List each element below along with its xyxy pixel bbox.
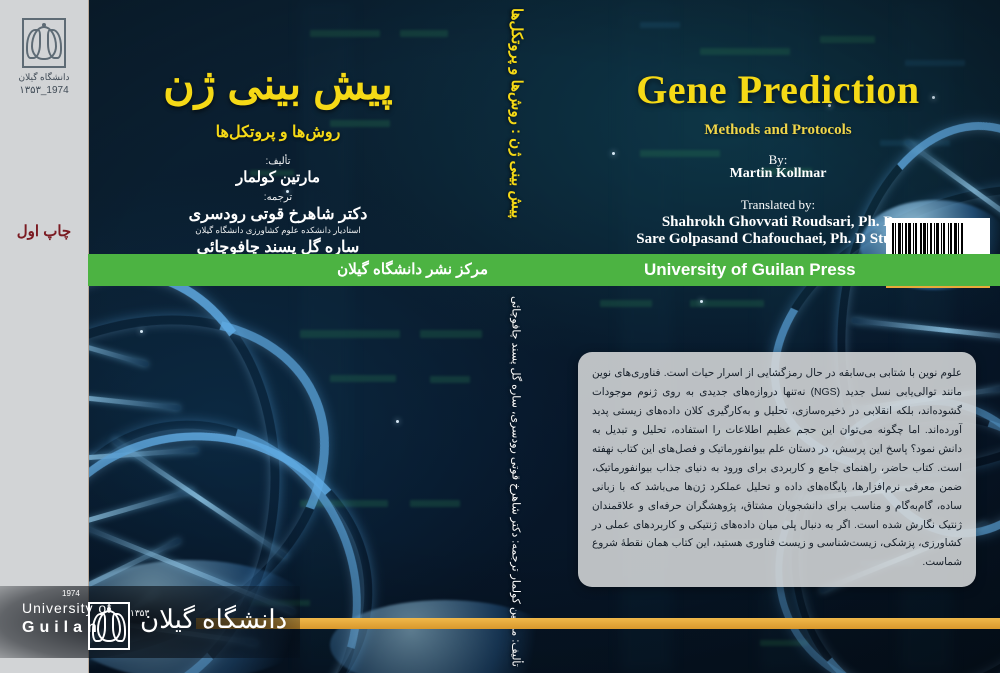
spine-title: پیش بینی ژن : روش‌ها و پروتکل‌ها	[507, 8, 525, 218]
persian-title: پیش بینی ژن	[88, 60, 468, 110]
book-cover: دانشگاه گیلان ۱۳۵۳_1974 چاپ اول پیش بینی…	[0, 0, 1000, 673]
persian-subtitle: روش‌ها و پروتکل‌ها	[88, 122, 468, 142]
back-cover-english: Gene Prediction Methods and Protocols By…	[556, 0, 1000, 673]
back-cover-blurb: علوم نوین با شتابی بی‌سابقه در حال رمزگش…	[578, 352, 976, 587]
persian-author-name: مارتین کولمار	[88, 168, 468, 186]
persian-translator-label: ترجمه:	[88, 192, 468, 203]
english-author-name: Martin Kollmar	[556, 166, 1000, 182]
flap-logo: دانشگاه گیلان ۱۳۵۳_1974	[0, 18, 88, 96]
edition-label: چاپ اول	[0, 222, 88, 240]
spine-credits-wrap: تألیف: مارتین کولمار ترجمه: دکتر شاهرخ ق…	[476, 296, 556, 646]
flap-logo-name: دانشگاه گیلان	[19, 72, 70, 83]
persian-credits: تألیف: مارتین کولمار ترجمه: دکتر شاهرخ ق…	[88, 150, 468, 269]
english-translated-label: Translated by:	[556, 197, 1000, 213]
book-spine: پیش بینی ژن : روش‌ها و پروتکل‌ها تألیف: …	[476, 0, 556, 673]
front-cover-persian: پیش بینی ژن روش‌ها و پروتکل‌ها تألیف: ما…	[88, 0, 476, 673]
publisher-name-persian: مرکز نشر دانشگاه گیلان	[337, 254, 488, 286]
english-title: Gene Prediction	[556, 66, 1000, 113]
persian-author-label: تألیف:	[88, 156, 468, 167]
flap-logo-years: ۱۳۵۳_1974	[19, 85, 68, 96]
spine-title-wrap: پیش بینی ژن : روش‌ها و پروتکل‌ها	[476, 8, 556, 248]
persian-translator-1: دکتر شاهرخ قوتی رودسری	[88, 204, 468, 224]
university-logo-block: 1974 University of Guilan ۱۳۵۳ دانشگاه گ…	[0, 586, 300, 658]
publisher-name-english: University of Guilan Press	[644, 254, 856, 286]
persian-translator-1-affiliation: استادیار دانشکده علوم کشاورزی دانشگاه گی…	[88, 225, 468, 236]
guilan-crest-icon-large	[88, 602, 130, 650]
english-subtitle: Methods and Protocols	[556, 122, 1000, 139]
guilan-crest-icon	[22, 18, 66, 68]
university-year-en: 1974	[62, 589, 80, 598]
publisher-band: مرکز نشر دانشگاه گیلان University of Gui…	[88, 254, 1000, 286]
front-flap: دانشگاه گیلان ۱۳۵۳_1974 چاپ اول	[0, 0, 89, 673]
gold-accent-bar	[196, 618, 1000, 629]
university-name-fa: دانشگاه گیلان	[140, 604, 287, 635]
spine-credits: تألیف: مارتین کولمار ترجمه: دکتر شاهرخ ق…	[510, 296, 523, 667]
